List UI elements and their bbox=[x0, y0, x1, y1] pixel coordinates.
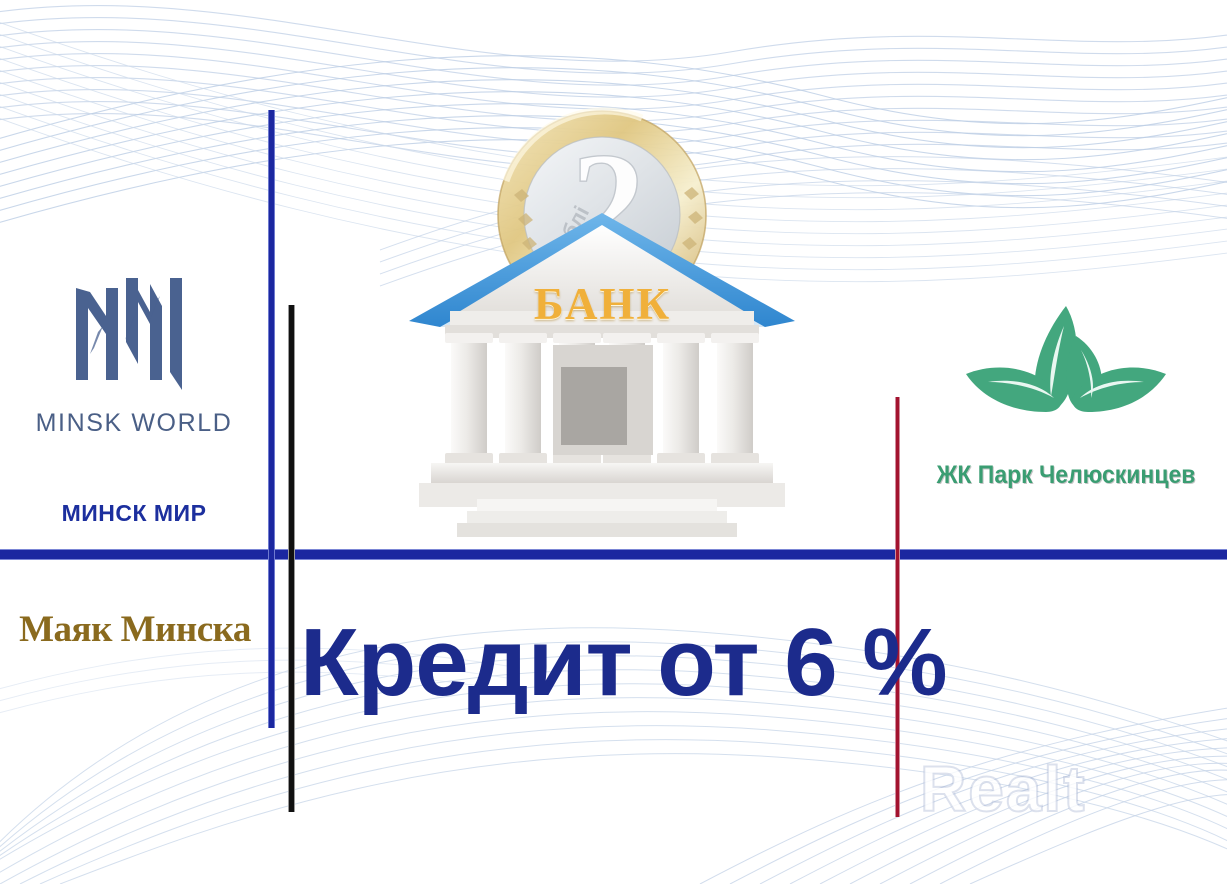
bank-building-illustration: 2 рублі bbox=[395, 95, 810, 545]
vertical-divider-blue bbox=[268, 110, 275, 728]
horizontal-divider-blue bbox=[0, 549, 1227, 560]
banner-canvas: MINSK WORLD МИНСК МИР Маяк Минска bbox=[0, 0, 1227, 884]
brand-mayak-minska: Маяк Минска bbox=[10, 608, 260, 651]
vertical-divider-red bbox=[895, 397, 900, 817]
green-leaf-icon bbox=[905, 300, 1227, 455]
brand-minsk-world: MINSK WORLD bbox=[18, 272, 250, 438]
minsk-world-subtitle: МИНСК МИР bbox=[18, 500, 250, 527]
park-chelyuskintsev-label: ЖК Парк Челюскинцев bbox=[918, 461, 1214, 490]
brand-park-chelyuskintsev: ЖК Парк Челюскинцев bbox=[905, 300, 1227, 490]
headline-credit-rate: Кредит от 6 % bbox=[300, 615, 900, 711]
realt-watermark: Realt bbox=[920, 752, 1087, 826]
minsk-world-wordmark: MINSK WORLD bbox=[18, 409, 250, 438]
vertical-divider-black bbox=[288, 305, 295, 812]
mw-monogram-icon bbox=[18, 272, 250, 397]
